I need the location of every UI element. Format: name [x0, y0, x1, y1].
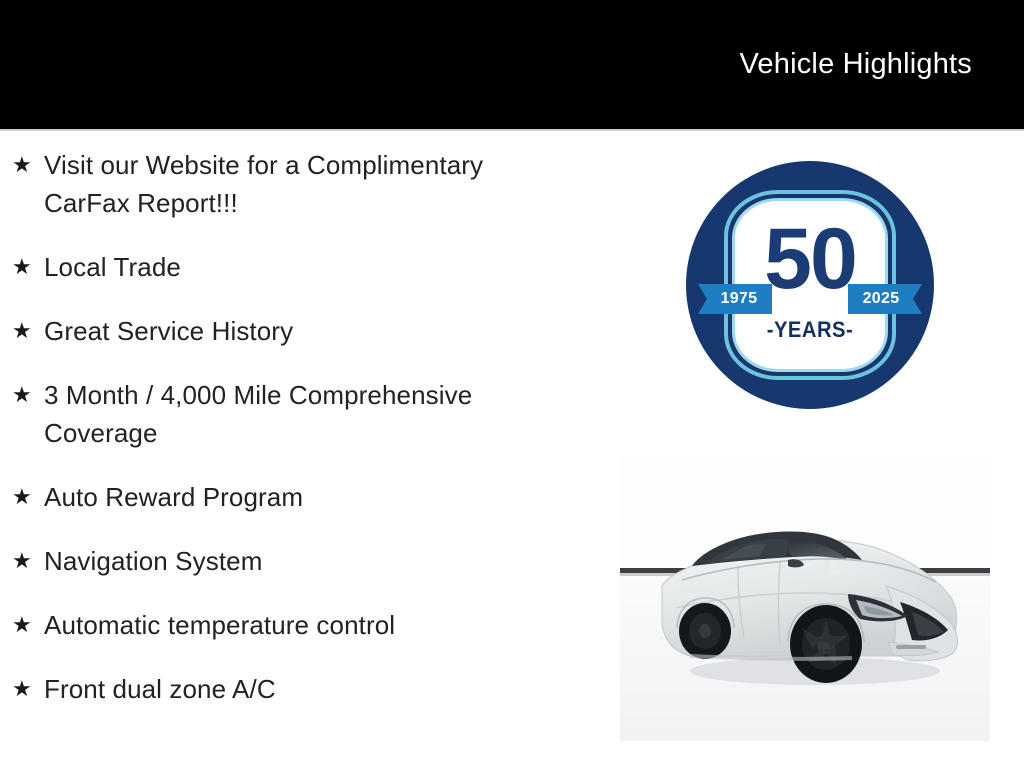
list-item: ★ 3 Month / 4,000 Mile Comprehensive Cov…	[0, 376, 600, 452]
list-item: ★ Visit our Website for a Complimentary …	[0, 146, 600, 222]
star-bullet-icon: ★	[12, 312, 44, 350]
list-item: ★ Great Service History	[0, 312, 600, 350]
page-title: Vehicle Highlights	[739, 48, 972, 81]
list-item-label: Navigation System	[44, 542, 556, 580]
list-item-label: Automatic temperature control	[44, 606, 556, 644]
star-bullet-icon: ★	[12, 248, 44, 286]
star-bullet-icon: ★	[12, 478, 44, 516]
vehicle-highlights-slide: Vehicle Highlights ★ Visit our Website f…	[0, 0, 1024, 768]
list-item-label: Auto Reward Program	[44, 478, 556, 516]
right-column: 1975 2025 50 -YEARS-	[614, 129, 1024, 768]
list-item-label: Front dual zone A/C	[44, 670, 556, 708]
star-bullet-icon: ★	[12, 146, 44, 184]
vehicle-photo	[620, 456, 990, 741]
list-item-label: Local Trade	[44, 248, 556, 286]
star-bullet-icon: ★	[12, 542, 44, 580]
star-bullet-icon: ★	[12, 670, 44, 708]
star-bullet-icon: ★	[12, 376, 44, 414]
star-bullet-icon: ★	[12, 606, 44, 644]
vehicle-photo-illustration	[620, 456, 990, 741]
list-item-label: Great Service History	[44, 312, 556, 350]
anniversary-logo: 1975 2025 50 -YEARS-	[686, 161, 934, 409]
logo-number-50: 50	[738, 205, 882, 313]
list-item: ★ Auto Reward Program	[0, 478, 600, 516]
list-item: ★ Automatic temperature control	[0, 606, 600, 644]
list-item: ★ Local Trade	[0, 248, 600, 286]
list-item: ★ Navigation System	[0, 542, 600, 580]
list-item-label: 3 Month / 4,000 Mile Comprehensive Cover…	[44, 376, 556, 452]
header-band: Vehicle Highlights	[0, 0, 1024, 129]
logo-years-label: -YEARS-	[744, 313, 876, 347]
vehicle-highlights-list: ★ Visit our Website for a Complimentary …	[0, 146, 600, 734]
list-item-label: Visit our Website for a Complimentary Ca…	[44, 146, 556, 222]
list-item: ★ Front dual zone A/C	[0, 670, 600, 708]
